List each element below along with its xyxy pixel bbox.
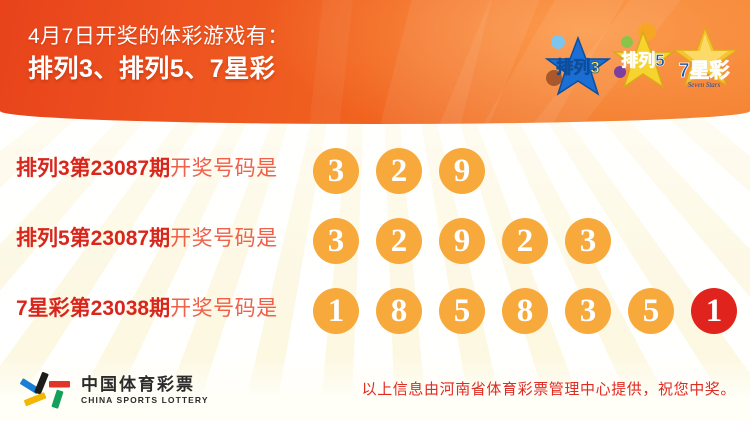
number-ball: 3 [313, 218, 359, 264]
result-row: 排列3第23087期开奖号码是 3 2 9 [0, 140, 750, 210]
brand-name-cn: 中国体育彩票 [81, 376, 209, 393]
number-ball: 3 [565, 288, 611, 334]
number-ball: 2 [376, 148, 422, 194]
results-list: 排列3第23087期开奖号码是 3 2 9 排列5第23087期开奖号码是 3 … [0, 140, 750, 350]
result-number-balls: 1 8 5 8 3 5 1 [313, 288, 737, 334]
pailie5-logo-label: 排列5 [621, 50, 664, 70]
number-ball: 8 [502, 288, 548, 334]
header-subtitle: 4月7日开奖的体彩游戏有： [28, 22, 289, 52]
header-title: 排列3、排列5、7星彩 [28, 52, 289, 86]
brand-name-en: CHINA SPORTS LOTTERY [81, 396, 209, 405]
footer-disclaimer: 以上信息由河南省体育彩票管理中心提供，祝您中奖。 [362, 378, 736, 399]
result-issue-text: 排列3第23087期 [16, 157, 170, 180]
result-suffix-text: 开奖号码是 [170, 227, 278, 250]
number-ball: 1 [313, 288, 359, 334]
result-row-label: 7星彩第23038期开奖号码是 [16, 294, 278, 324]
pailie3-logo[interactable]: 排列3 [541, 28, 615, 102]
number-ball: 5 [439, 288, 485, 334]
result-number-balls: 3 2 9 2 3 [313, 218, 611, 264]
result-suffix-text: 开奖号码是 [170, 157, 278, 180]
pailie3-logo-label: 排列3 [556, 57, 599, 77]
number-ball: 3 [565, 218, 611, 264]
result-row-label: 排列5第23087期开奖号码是 [16, 224, 278, 254]
number-ball: 3 [313, 148, 359, 194]
china-sports-lottery-logo-icon [18, 370, 72, 410]
result-row: 7星彩第23038期开奖号码是 1 8 5 8 3 5 1 [0, 280, 750, 350]
number-ball: 9 [439, 148, 485, 194]
brand-wordmark: 中国体育彩票 CHINA SPORTS LOTTERY [81, 376, 209, 405]
brand-block: 中国体育彩票 CHINA SPORTS LOTTERY [18, 370, 209, 410]
number-ball: 5 [628, 288, 674, 334]
header-ray-decoration [299, 0, 360, 124]
result-row-label: 排列3第23087期开奖号码是 [16, 154, 278, 184]
game-logo-group: 排列3 排列5 7星彩 Seven Stars [537, 16, 742, 106]
result-issue-text: 7星彩第23038期 [16, 297, 170, 320]
special-number-ball: 1 [691, 288, 737, 334]
qixingcai-logo-label: 7星彩 [678, 59, 729, 82]
result-number-balls: 3 2 9 [313, 148, 485, 194]
number-ball: 8 [376, 288, 422, 334]
number-ball: 2 [502, 218, 548, 264]
qixingcai-logo[interactable]: 7星彩 Seven Stars [667, 22, 741, 96]
footer-bar: 中国体育彩票 CHINA SPORTS LOTTERY 以上信息由河南省体育彩票… [0, 364, 750, 422]
header-text-block: 4月7日开奖的体彩游戏有： 排列3、排列5、7星彩 [28, 22, 289, 86]
number-ball: 9 [439, 218, 485, 264]
number-ball: 2 [376, 218, 422, 264]
result-suffix-text: 开奖号码是 [170, 297, 278, 320]
lottery-results-poster: 4月7日开奖的体彩游戏有： 排列3、排列5、7星彩 排列3 排列5 [0, 0, 750, 422]
result-row: 排列5第23087期开奖号码是 3 2 9 2 3 [0, 210, 750, 280]
qixingcai-logo-sublabel: Seven Stars [688, 81, 721, 89]
result-issue-text: 排列5第23087期 [16, 227, 170, 250]
